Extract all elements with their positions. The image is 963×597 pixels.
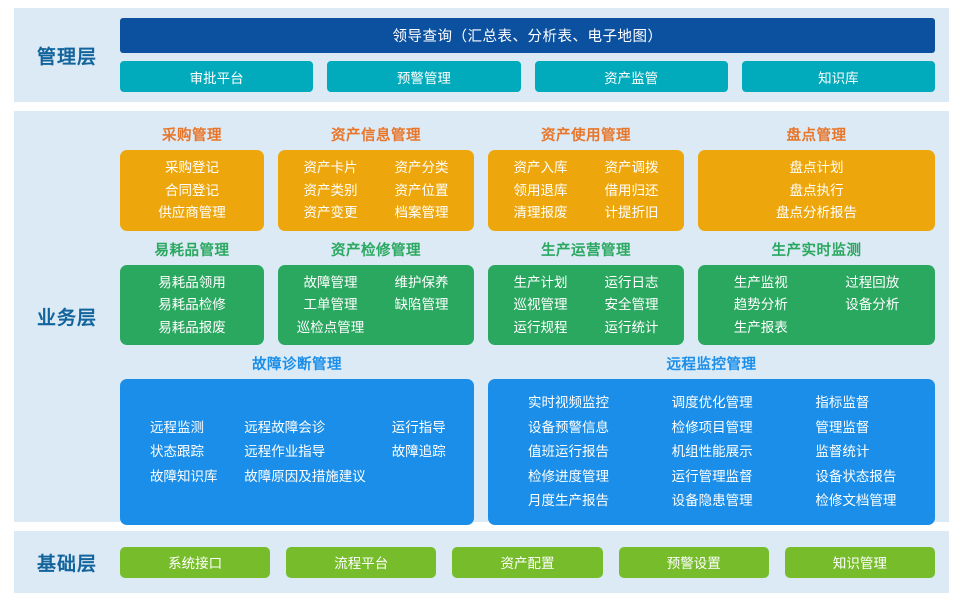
- item[interactable]: 生产报表: [734, 320, 788, 336]
- group-items-fault-diagnosis: 远程监测 远程故障会诊 运行指导 状态跟踪 远程作业指导 故障追踪 故障知识库 …: [134, 395, 460, 509]
- group-box-production-operation[interactable]: 生产计划 运行日志 巡视管理 安全管理 运行规程 运行统计: [488, 265, 684, 346]
- item[interactable]: 生产监视: [734, 275, 788, 291]
- item[interactable]: 盘点执行: [790, 183, 844, 199]
- item[interactable]: 管理监督: [815, 420, 869, 436]
- group-production-realtime-monitoring: 生产实时监测 生产监视 过程回放 趋势分析 设备分析 生产报表: [698, 235, 935, 346]
- group-items-asset-maintenance: 故障管理 维护保养 工单管理 缺陷管理 巡检点管理: [288, 275, 464, 336]
- group-inventory-management: 盘点管理 盘点计划 盘点执行 盘点分析报告: [698, 120, 935, 231]
- foundation-button-asset-configuration[interactable]: 资产配置: [452, 547, 602, 578]
- item[interactable]: 盘点分析报告: [776, 205, 857, 221]
- item[interactable]: 故障追踪: [392, 444, 446, 460]
- item[interactable]: 远程监测: [150, 420, 204, 436]
- group-box-asset-usage[interactable]: 资产入库 资产调拨 领用退库 借用归还 清理报废 计提折旧: [488, 150, 684, 231]
- item[interactable]: 采购登记: [165, 160, 219, 176]
- item[interactable]: 资产卡片: [304, 160, 358, 176]
- group-box-inventory[interactable]: 盘点计划 盘点执行 盘点分析报告: [698, 150, 935, 231]
- item[interactable]: 生产计划: [514, 275, 568, 291]
- item[interactable]: 设备分析: [845, 297, 899, 313]
- group-asset-information-management: 资产信息管理 资产卡片 资产分类 资产类别 资产位置 资产变更 档案管理: [278, 120, 474, 231]
- group-title-procurement: 采购管理: [120, 120, 264, 150]
- item[interactable]: 设备隐患管理: [672, 493, 753, 509]
- item[interactable]: 故障原因及措施建议: [244, 469, 366, 485]
- foundation-layer: 基础层 系统接口 流程平台 资产配置 预警设置 知识管理: [14, 531, 949, 593]
- group-title-production-operation: 生产运营管理: [488, 235, 684, 265]
- architecture-diagram: 管理层 领导查询（汇总表、分析表、电子地图） 审批平台 预警管理 资产监管 知识…: [0, 0, 963, 597]
- item[interactable]: 运行日志: [605, 275, 659, 291]
- management-button-knowledge-base[interactable]: 知识库: [742, 61, 935, 92]
- item[interactable]: 维护保养: [395, 275, 449, 291]
- business-layer-body: 采购管理 采购登记 合同登记 供应商管理 资产信息管理 资产卡片: [120, 111, 949, 522]
- item[interactable]: 运行管理监督: [672, 469, 753, 485]
- foundation-button-knowledge-management[interactable]: 知识管理: [785, 547, 935, 578]
- item[interactable]: 巡检点管理: [297, 320, 365, 336]
- item[interactable]: 资产分类: [395, 160, 449, 176]
- item[interactable]: 状态跟踪: [150, 444, 204, 460]
- group-title-consumable: 易耗品管理: [120, 235, 264, 265]
- group-title-asset-maintenance: 资产检修管理: [278, 235, 474, 265]
- item[interactable]: 安全管理: [605, 297, 659, 313]
- item[interactable]: 借用归还: [605, 183, 659, 199]
- item[interactable]: 运行规程: [514, 320, 568, 336]
- group-items-production-realtime: 生产监视 过程回放 趋势分析 设备分析 生产报表: [708, 275, 925, 336]
- business-row-monitoring: 故障诊断管理 远程监测 远程故障会诊 运行指导 状态跟踪 远程作业指导 故障追踪…: [120, 349, 935, 525]
- group-box-asset-information[interactable]: 资产卡片 资产分类 资产类别 资产位置 资产变更 档案管理: [278, 150, 474, 231]
- item[interactable]: 监督统计: [815, 444, 869, 460]
- business-layer-label: 业务层: [14, 111, 120, 522]
- item[interactable]: 故障管理: [304, 275, 358, 291]
- foundation-layer-label: 基础层: [14, 549, 120, 576]
- foundation-button-system-interface[interactable]: 系统接口: [120, 547, 270, 578]
- group-items-remote-monitoring: 实时视频监控 调度优化管理 指标监督 设备预警信息 检修项目管理 管理监督 值班…: [502, 395, 921, 509]
- item[interactable]: 检修文档管理: [815, 493, 896, 509]
- group-procurement-management: 采购管理 采购登记 合同登记 供应商管理: [120, 120, 264, 231]
- item[interactable]: 合同登记: [165, 183, 219, 199]
- item[interactable]: 计提折旧: [605, 205, 659, 221]
- item[interactable]: 远程故障会诊: [244, 420, 325, 436]
- group-box-asset-maintenance[interactable]: 故障管理 维护保养 工单管理 缺陷管理 巡检点管理: [278, 265, 474, 346]
- group-items-consumable: 易耗品领用 易耗品检修 易耗品报废: [130, 275, 254, 336]
- item[interactable]: 过程回放: [845, 275, 899, 291]
- item[interactable]: 资产入库: [514, 160, 568, 176]
- item[interactable]: 设备预警信息: [528, 420, 609, 436]
- item[interactable]: 值班运行报告: [528, 444, 609, 460]
- item[interactable]: 故障知识库: [150, 469, 218, 485]
- management-button-alarm[interactable]: 预警管理: [327, 61, 520, 92]
- group-asset-usage-management: 资产使用管理 资产入库 资产调拨 领用退库 借用归还 清理报废 计提折旧: [488, 120, 684, 231]
- item[interactable]: 领用退库: [514, 183, 568, 199]
- group-title-remote-monitoring: 远程监控管理: [488, 349, 935, 379]
- management-button-row: 审批平台 预警管理 资产监管 知识库: [120, 61, 935, 92]
- management-layer-body: 领导查询（汇总表、分析表、电子地图） 审批平台 预警管理 资产监管 知识库: [120, 18, 949, 92]
- group-box-remote-monitoring[interactable]: 实时视频监控 调度优化管理 指标监督 设备预警信息 检修项目管理 管理监督 值班…: [488, 379, 935, 525]
- item[interactable]: 资产位置: [395, 183, 449, 199]
- group-items-asset-usage: 资产入库 资产调拨 领用退库 借用归还 清理报废 计提折旧: [498, 160, 674, 221]
- item[interactable]: 资产调拨: [605, 160, 659, 176]
- group-fault-diagnosis-management: 故障诊断管理 远程监测 远程故障会诊 运行指导 状态跟踪 远程作业指导 故障追踪…: [120, 349, 474, 525]
- group-items-procurement: 采购登记 合同登记 供应商管理: [130, 160, 254, 221]
- item[interactable]: 调度优化管理: [672, 395, 753, 411]
- group-items-production-operation: 生产计划 运行日志 巡视管理 安全管理 运行规程 运行统计: [498, 275, 674, 336]
- item[interactable]: 工单管理: [304, 297, 358, 313]
- item[interactable]: 实时视频监控: [528, 395, 609, 411]
- item[interactable]: 缺陷管理: [395, 297, 449, 313]
- item[interactable]: 巡视管理: [514, 297, 568, 313]
- item[interactable]: 易耗品检修: [158, 297, 226, 313]
- item[interactable]: 趋势分析: [734, 297, 788, 313]
- group-box-consumable[interactable]: 易耗品领用 易耗品检修 易耗品报废: [120, 265, 264, 346]
- group-title-production-realtime: 生产实时监测: [698, 235, 935, 265]
- group-box-procurement[interactable]: 采购登记 合同登记 供应商管理: [120, 150, 264, 231]
- business-row-operations: 易耗品管理 易耗品领用 易耗品检修 易耗品报废 资产检修管理 故障管理: [120, 235, 935, 346]
- leader-query-bar[interactable]: 领导查询（汇总表、分析表、电子地图）: [120, 18, 935, 53]
- group-items-inventory: 盘点计划 盘点执行 盘点分析报告: [708, 160, 925, 221]
- item[interactable]: 资产变更: [304, 205, 358, 221]
- group-title-asset-usage: 资产使用管理: [488, 120, 684, 150]
- group-consumable-management: 易耗品管理 易耗品领用 易耗品检修 易耗品报废: [120, 235, 264, 346]
- business-row-procurement: 采购管理 采购登记 合同登记 供应商管理 资产信息管理 资产卡片: [120, 120, 935, 231]
- group-box-production-realtime[interactable]: 生产监视 过程回放 趋势分析 设备分析 生产报表: [698, 265, 935, 346]
- business-layer: 业务层 采购管理 采购登记 合同登记 供应商管理 资产信息管理: [14, 111, 949, 522]
- management-button-asset-supervision[interactable]: 资产监管: [535, 61, 728, 92]
- item[interactable]: 检修进度管理: [528, 469, 609, 485]
- item[interactable]: 资产类别: [304, 183, 358, 199]
- item[interactable]: 远程作业指导: [244, 444, 325, 460]
- item[interactable]: 月度生产报告: [528, 493, 609, 509]
- item[interactable]: 易耗品报废: [158, 320, 226, 336]
- group-box-fault-diagnosis[interactable]: 远程监测 远程故障会诊 运行指导 状态跟踪 远程作业指导 故障追踪 故障知识库 …: [120, 379, 474, 525]
- item[interactable]: 指标监督: [815, 395, 869, 411]
- management-layer-label: 管理层: [14, 42, 120, 69]
- foundation-button-process-platform[interactable]: 流程平台: [286, 547, 436, 578]
- group-asset-maintenance-management: 资产检修管理 故障管理 维护保养 工单管理 缺陷管理 巡检点管理: [278, 235, 474, 346]
- item[interactable]: 易耗品领用: [158, 275, 226, 291]
- item[interactable]: 机组性能展示: [672, 444, 753, 460]
- management-button-approval[interactable]: 审批平台: [120, 61, 313, 92]
- item[interactable]: 设备状态报告: [815, 469, 896, 485]
- foundation-layer-body: 系统接口 流程平台 资产配置 预警设置 知识管理: [120, 547, 949, 578]
- group-remote-monitoring-management: 远程监控管理 实时视频监控 调度优化管理 指标监督 设备预警信息 检修项目管理 …: [488, 349, 935, 525]
- item[interactable]: 档案管理: [395, 205, 449, 221]
- group-production-operation-management: 生产运营管理 生产计划 运行日志 巡视管理 安全管理 运行规程 运行统计: [488, 235, 684, 346]
- item[interactable]: 清理报废: [514, 205, 568, 221]
- item[interactable]: 盘点计划: [790, 160, 844, 176]
- item[interactable]: 运行统计: [605, 320, 659, 336]
- management-layer: 管理层 领导查询（汇总表、分析表、电子地图） 审批平台 预警管理 资产监管 知识…: [14, 8, 949, 102]
- group-title-asset-information: 资产信息管理: [278, 120, 474, 150]
- group-title-inventory: 盘点管理: [698, 120, 935, 150]
- group-title-fault-diagnosis: 故障诊断管理: [120, 349, 474, 379]
- item[interactable]: 供应商管理: [158, 205, 226, 221]
- item[interactable]: 检修项目管理: [672, 420, 753, 436]
- foundation-button-alarm-settings[interactable]: 预警设置: [619, 547, 769, 578]
- item[interactable]: 运行指导: [392, 420, 446, 436]
- group-items-asset-information: 资产卡片 资产分类 资产类别 资产位置 资产变更 档案管理: [288, 160, 464, 221]
